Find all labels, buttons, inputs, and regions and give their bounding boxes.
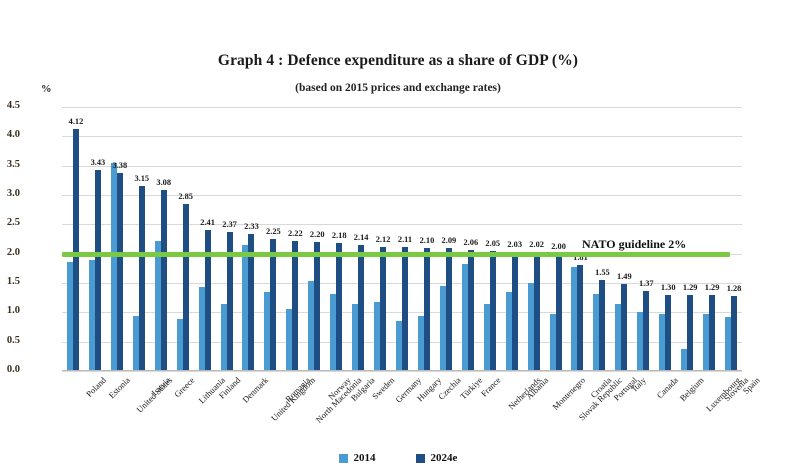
x-axis-label: Greece xyxy=(172,375,196,399)
bar-2024e xyxy=(534,253,540,372)
x-axis-label: Estonia xyxy=(106,375,131,400)
bar-2024e xyxy=(183,204,189,371)
x-axis-label: Canada xyxy=(655,375,680,400)
x-axis-label: Belgium xyxy=(678,375,706,403)
nato-guideline-label: NATO guideline 2% xyxy=(582,237,686,252)
bar-2024e xyxy=(161,190,167,371)
y-axis-tick-label: 2.0 xyxy=(0,247,20,258)
legend-swatch xyxy=(339,454,348,463)
y-axis-tick-label: 4.0 xyxy=(0,129,20,140)
bar-group xyxy=(242,107,254,371)
bar-2024e xyxy=(709,295,715,371)
bar-2024e xyxy=(468,250,474,371)
legend-label: 2014 xyxy=(354,452,376,464)
legend-label: 2024e xyxy=(431,452,458,464)
x-axis-label: France xyxy=(479,375,503,399)
bar-2024e xyxy=(336,243,342,371)
legend-item[interactable]: 2024e xyxy=(416,452,458,464)
bar-2024e xyxy=(687,295,693,371)
bar-2024e xyxy=(139,186,145,371)
y-axis-tick-label: 0.0 xyxy=(0,364,20,375)
x-axis-label: Montenegro xyxy=(550,375,587,412)
bar-group xyxy=(111,107,123,371)
y-axis-tick-label: 3.5 xyxy=(0,159,20,170)
bar-2024e xyxy=(402,247,408,371)
bar-group xyxy=(155,107,167,371)
bar-group xyxy=(703,107,715,371)
bar-2024e xyxy=(380,247,386,371)
bar-group xyxy=(89,107,101,371)
y-axis-tick-label: 2.5 xyxy=(0,217,20,228)
bar-2024e xyxy=(490,251,496,371)
bar-group xyxy=(264,107,276,371)
y-axis-tick-label: 4.5 xyxy=(0,100,20,111)
y-axis-tick-label: 1.5 xyxy=(0,276,20,287)
bar-2024e xyxy=(270,239,276,371)
bar-group xyxy=(133,107,145,371)
bar-value-label: 1.28 xyxy=(712,284,756,293)
y-axis-tick-label: 0.5 xyxy=(0,335,20,346)
y-axis-unit-label: % xyxy=(41,84,52,95)
chart-title: Graph 4 : Defence expenditure as a share… xyxy=(0,52,796,70)
bar-2024e xyxy=(446,248,452,371)
x-axis-label: Denmark xyxy=(240,375,270,405)
bar-2024e xyxy=(95,170,101,371)
bar-2024e xyxy=(424,248,430,371)
chart-canvas: Graph 4 : Defence expenditure as a share… xyxy=(0,0,796,475)
chart-subtitle: (based on 2015 prices and exchange rates… xyxy=(0,82,796,94)
x-axis-label: Türkiye xyxy=(458,375,484,401)
bar-2024e xyxy=(643,291,649,371)
bar-group xyxy=(199,107,211,371)
bar-group xyxy=(528,107,540,371)
bar-group xyxy=(67,107,79,371)
x-axis-label: Poland xyxy=(84,375,108,399)
bar-2024e xyxy=(292,241,298,371)
bar-2024e xyxy=(205,230,211,371)
bar-2024e xyxy=(358,245,364,371)
bar-2024e xyxy=(731,296,737,371)
y-axis-tick-label: 1.0 xyxy=(0,305,20,316)
bar-2024e xyxy=(599,280,605,371)
legend-item[interactable]: 2014 xyxy=(339,452,376,464)
bar-2024e xyxy=(577,265,583,371)
bar-2024e xyxy=(556,254,562,371)
bar-2024e xyxy=(512,252,518,371)
bar-group xyxy=(550,107,562,371)
bar-2024e xyxy=(621,284,627,371)
bar-group xyxy=(286,107,298,371)
gridline xyxy=(62,371,742,372)
x-axis-line xyxy=(62,370,742,371)
bar-group xyxy=(177,107,189,371)
bar-2024e xyxy=(314,242,320,371)
bar-2024e xyxy=(665,295,671,371)
bar-group xyxy=(221,107,233,371)
nato-guideline-line xyxy=(62,252,730,257)
chart-legend: 20142024e xyxy=(0,452,796,464)
bar-2024e xyxy=(117,173,123,371)
bar-group xyxy=(725,107,737,371)
legend-swatch xyxy=(416,454,425,463)
y-axis-tick-label: 3.0 xyxy=(0,188,20,199)
